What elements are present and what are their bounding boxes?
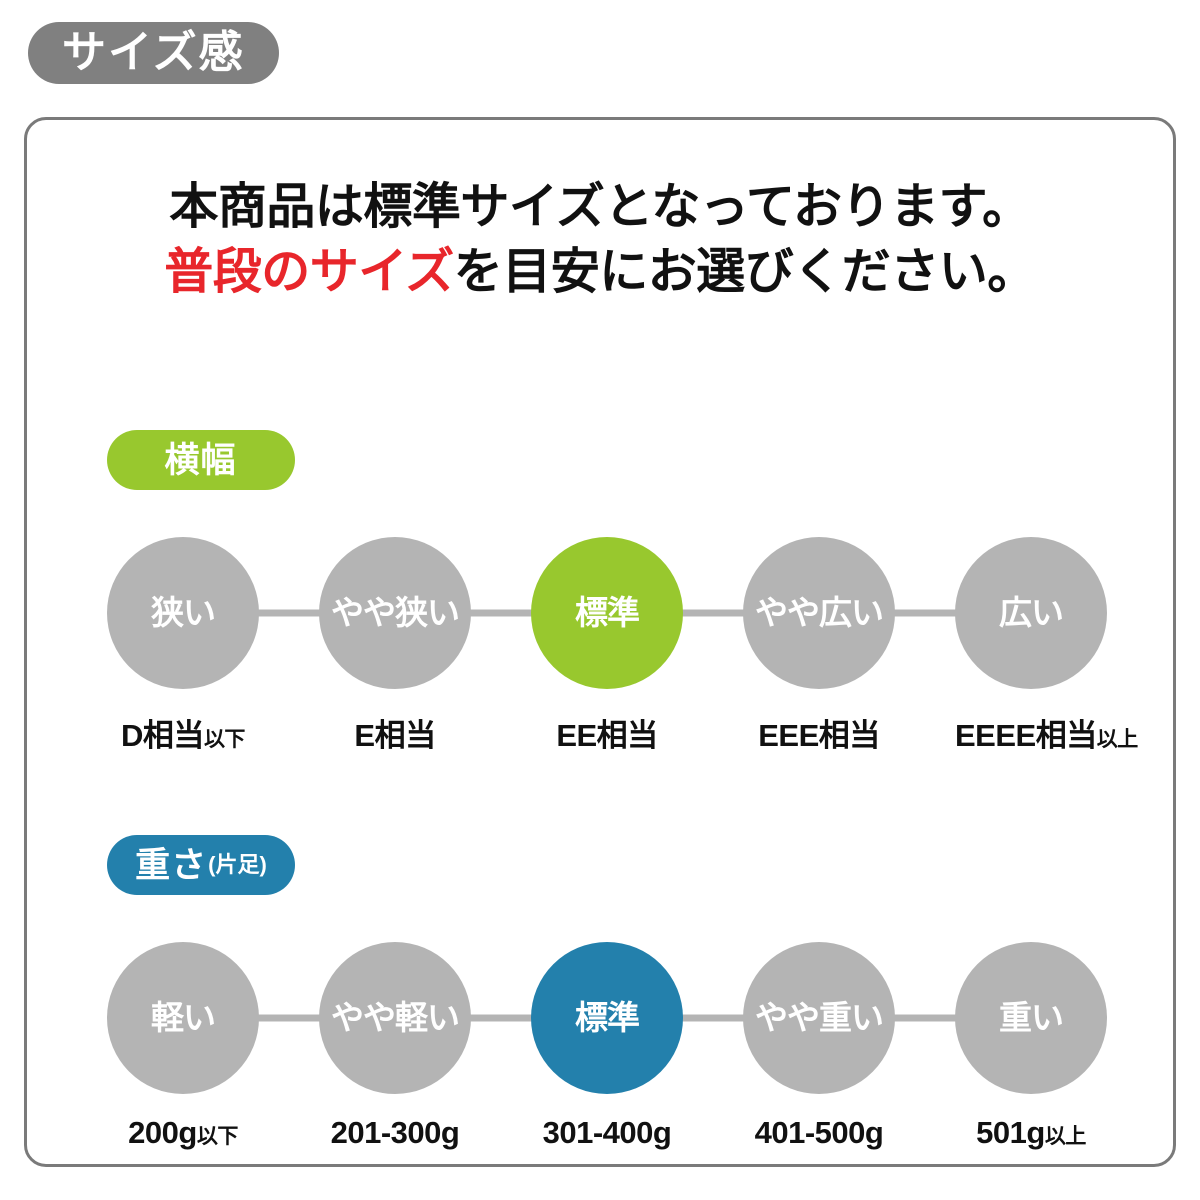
weight-caption-1-main: 201-300g [331,1115,460,1150]
width-caption-1-main: E相当 [354,718,435,753]
weight-node-1[interactable]: やや軽い [319,942,471,1094]
weight-caption-4: 501g以上 [955,1115,1107,1151]
section-badge-weight-label: 重さ [135,848,207,883]
weight-node-4[interactable]: 重い [955,942,1107,1094]
width-caption-4-main: EEEE相当 [955,718,1097,753]
headline-line-1: 本商品は標準サイズとなっております。 [27,175,1173,240]
width-caption-0-sub: 以下 [204,728,245,751]
weight-caption-3: 401-500g [743,1115,895,1151]
size-feel-header-badge: サイズ感 [28,22,279,84]
weight-caption-2: 301-400g [531,1115,683,1151]
width-caption-0: D相当以下 [107,710,259,755]
width-node-2-active[interactable]: 標準 [531,537,683,689]
weight-scale: 軽い やや軽い 標準 やや重い 重い [107,940,1107,1095]
headline-line-2-text: を目安にお選びください。 [454,245,1036,299]
width-node-1-label: やや狭い [331,596,459,629]
weight-node-0-label: 軽い [151,1001,215,1034]
width-node-3-label: やや広い [755,596,883,629]
section-badge-width-label: 横幅 [164,443,236,478]
width-captions: D相当以下 E相当 EE相当 EEE相当 EEEE相当以上 [107,710,1107,755]
width-node-0[interactable]: 狭い [107,537,259,689]
header-badge-label: サイズ感 [62,31,245,75]
weight-caption-0: 200g以下 [107,1115,259,1151]
headline-accent-text: 普段のサイズ [164,245,454,299]
weight-caption-0-sub: 以下 [197,1125,238,1148]
weight-node-1-label: やや軽い [331,1001,459,1034]
width-node-0-label: 狭い [151,596,215,629]
width-caption-2-main: EE相当 [556,718,657,753]
size-guide-card: 本商品は標準サイズとなっております。 普段のサイズを目安にお選びください。 横幅… [24,117,1176,1167]
weight-caption-4-main: 501g [976,1115,1045,1150]
width-caption-4: EEEE相当以上 [955,710,1107,755]
weight-caption-3-main: 401-500g [755,1115,884,1150]
weight-node-2-active[interactable]: 標準 [531,942,683,1094]
weight-scale-nodes: 軽い やや軽い 標準 やや重い 重い [107,940,1107,1095]
section-badge-width: 横幅 [107,430,295,490]
width-node-4[interactable]: 広い [955,537,1107,689]
width-node-1[interactable]: やや狭い [319,537,471,689]
width-caption-2: EE相当 [531,710,683,755]
width-node-2-label: 標準 [575,596,639,629]
headline-line-2: 普段のサイズを目安にお選びください。 [27,240,1173,305]
width-node-4-label: 広い [999,596,1063,629]
weight-node-3-label: やや重い [755,1001,883,1034]
width-scale-nodes: 狭い やや狭い 標準 やや広い 広い [107,535,1107,690]
weight-caption-2-main: 301-400g [543,1115,672,1150]
width-scale: 狭い やや狭い 標準 やや広い 広い [107,535,1107,690]
headline-block: 本商品は標準サイズとなっております。 普段のサイズを目安にお選びください。 [27,175,1173,304]
weight-node-4-label: 重い [999,1001,1063,1034]
width-caption-0-main: D相当 [121,718,204,753]
weight-caption-4-sub: 以上 [1045,1125,1086,1148]
weight-node-2-label: 標準 [575,1001,639,1034]
headline-line-1-text: 本商品は標準サイズとなっております。 [169,180,1030,234]
weight-node-0[interactable]: 軽い [107,942,259,1094]
width-caption-3-main: EEE相当 [758,718,880,753]
weight-caption-0-main: 200g [128,1115,197,1150]
weight-caption-1: 201-300g [319,1115,471,1151]
width-caption-1: E相当 [319,710,471,755]
section-badge-weight: 重さ (片足) [107,835,295,895]
width-node-3[interactable]: やや広い [743,537,895,689]
weight-captions: 200g以下 201-300g 301-400g 401-500g 501g以上 [107,1115,1107,1151]
width-caption-4-sub: 以上 [1097,728,1138,751]
section-badge-weight-sub: (片足) [208,854,267,876]
weight-node-3[interactable]: やや重い [743,942,895,1094]
width-caption-3: EEE相当 [743,710,895,755]
